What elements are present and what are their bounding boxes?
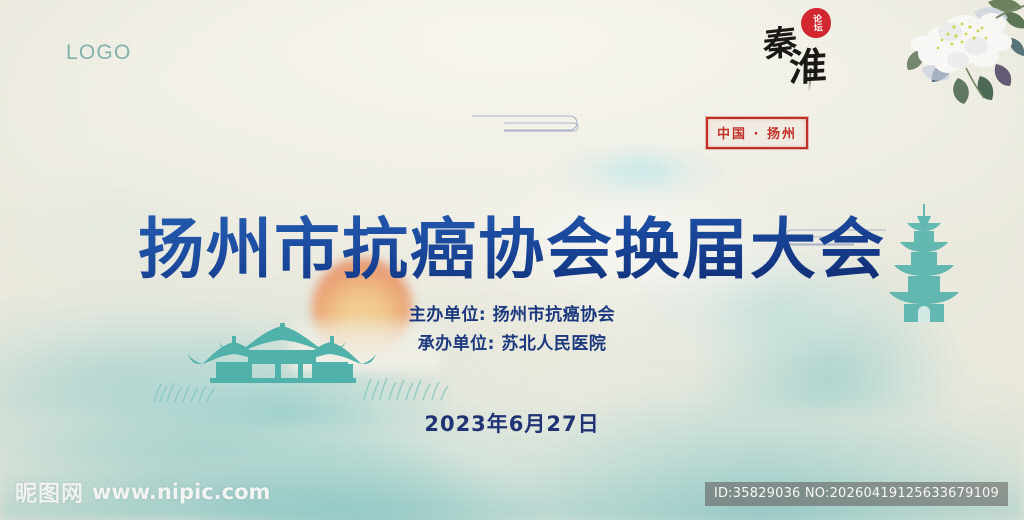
asset-id-badge: ID:35829036 NO:20260419125633679109 [705,482,1008,506]
logo-placeholder[interactable]: LOGO [66,41,131,65]
watermark-site-name: 昵图网 [15,476,84,508]
cloud-line-motif-icon [470,108,588,142]
location-stamp: 中国 · 扬州 [706,117,808,149]
organizer-block: 主办单位: 扬州市抗癌协会 承办单位: 苏北人民医院 [409,301,615,359]
page-title: 扬州市抗癌协会换届大会 [138,196,886,292]
watermark-site-url: www.nipic.com [92,480,270,504]
watermark: 昵图网 www.nipic.com [15,476,270,508]
pavilion-icon [172,320,392,400]
poster-canvas: LOGO 秦 淮 论坛 中国 · 扬州 扬州市抗癌协会换届大会 主办单位: 扬州… [0,0,1024,520]
calligraphy-brand-mark: 秦 淮 论坛 [763,6,833,84]
organizer-line-host: 主办单位: 扬州市抗癌协会 [409,301,615,330]
event-date: 2023年6月27日 [424,408,599,438]
pagoda-icon [887,204,961,322]
round-seal-label: 论坛 [811,14,821,33]
organizer-line-cohost: 承办单位: 苏北人民医院 [409,330,615,359]
white-flower-illustration [892,0,1024,106]
